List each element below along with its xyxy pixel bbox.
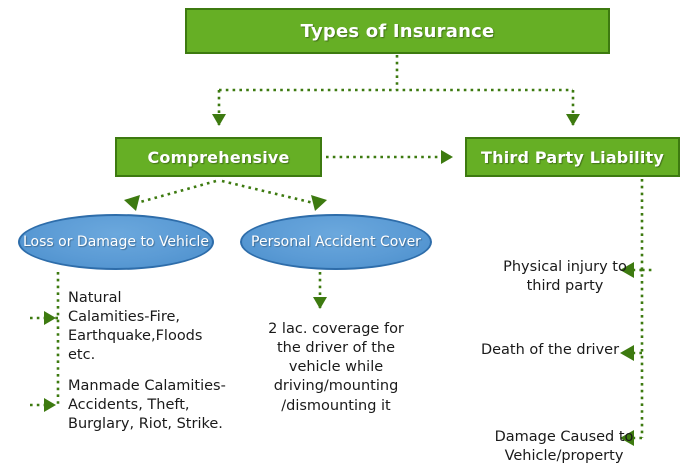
- edge-comp-to-loss: [133, 181, 216, 204]
- node-label: Third Party Liability: [481, 148, 664, 167]
- node-loss-or-damage-to-vehicle[interactable]: Loss or Damage to Vehicle: [18, 214, 214, 270]
- note-natural-calamities: Natural Calamities-Fire, Earthquake,Floo…: [68, 289, 228, 366]
- node-third-party-liability[interactable]: Third Party Liability: [465, 137, 680, 177]
- insurance-types-diagram: Types of Insurance Comprehensive Third P…: [0, 0, 700, 475]
- node-comprehensive[interactable]: Comprehensive: [115, 137, 322, 177]
- node-label: Personal Accident Cover: [251, 234, 421, 250]
- node-label: Comprehensive: [147, 148, 289, 167]
- node-types-of-insurance[interactable]: Types of Insurance: [185, 8, 610, 54]
- node-label: Loss or Damage to Vehicle: [23, 234, 209, 250]
- note-death-of-the-driver: Death of the driver: [470, 341, 630, 360]
- note-physical-injury-to-third-party: Physical injury to third party: [495, 258, 635, 296]
- node-label: Types of Insurance: [301, 21, 495, 42]
- node-personal-accident-cover[interactable]: Personal Accident Cover: [240, 214, 432, 270]
- note-damage-caused-to-vehicle-property: Damage Caused to Vehicle/property: [488, 428, 640, 466]
- edge-comp-to-pac: [222, 181, 318, 204]
- note-manmade-calamities: Manmade Calamities- Accidents, Theft, Bu…: [68, 377, 230, 434]
- note-driver-coverage: 2 lac. coverage for the driver of the ve…: [248, 320, 424, 416]
